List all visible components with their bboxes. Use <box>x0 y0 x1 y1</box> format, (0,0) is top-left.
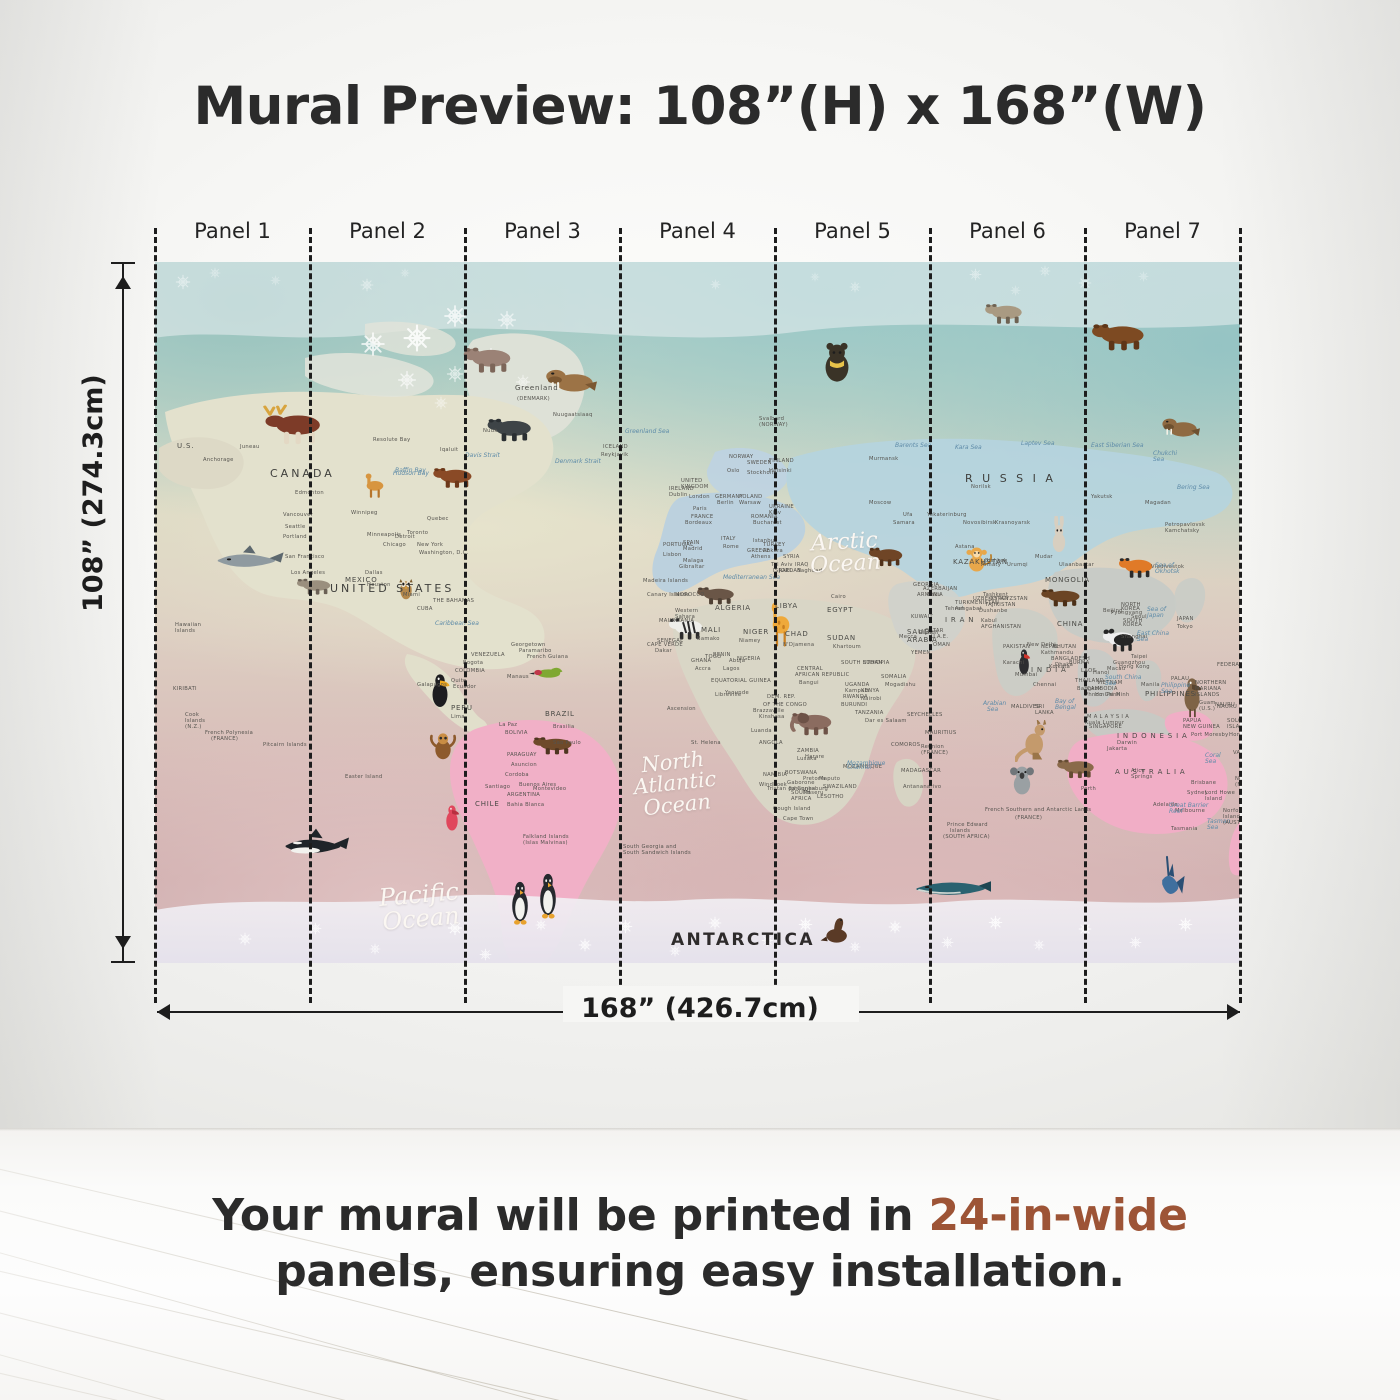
panel-seam-1 <box>309 228 312 1003</box>
panel-seam-0 <box>154 228 157 1003</box>
caption-line-2: panels, ensuring easy installation. <box>0 1244 1400 1300</box>
height-tick-top <box>111 262 135 264</box>
wall-shadow-right <box>1220 0 1400 1128</box>
caption-line-1-pre: Your mural will be printed in <box>212 1190 928 1241</box>
panel-seam-3 <box>619 228 622 1003</box>
mural-preview-page: Mural Preview: 108”(H) x 168”(W) Panel 1… <box>0 0 1400 1400</box>
panel-seam-7 <box>1239 228 1242 1003</box>
caption-highlight: 24-in-wide <box>929 1190 1188 1241</box>
height-arrow-down <box>115 936 131 949</box>
floor-baseboard <box>0 1128 1400 1131</box>
panel-label-1: Panel 1 <box>155 214 310 248</box>
map-landmass-shapes <box>155 262 1240 963</box>
panel-seam-4 <box>774 228 777 1003</box>
height-dimension-label: 108” (274.3cm) <box>78 374 109 612</box>
panel-label-5: Panel 5 <box>775 214 930 248</box>
panel-label-7: Panel 7 <box>1085 214 1240 248</box>
height-dimension-line <box>122 262 124 963</box>
panel-label-2: Panel 2 <box>310 214 465 248</box>
height-tick-bottom <box>111 961 135 963</box>
panel-seam-6 <box>1084 228 1087 1003</box>
floor-plank-line <box>0 1394 1400 1400</box>
panel-label-row: Panel 1Panel 2Panel 3Panel 4Panel 5Panel… <box>155 214 1240 248</box>
panel-seam-2 <box>464 228 467 1003</box>
width-dimension-label: 168” (426.7cm) <box>0 993 1400 1024</box>
height-arrow-up <box>115 276 131 289</box>
panel-label-3: Panel 3 <box>465 214 620 248</box>
caption-line-1: Your mural will be printed in 24-in-wide <box>0 1188 1400 1244</box>
antarctica-label: ANTARCTICA <box>671 930 815 950</box>
map-artwork: U.S.CANADAUNITED STATESMEXICOAnchorageJu… <box>155 262 1240 963</box>
panel-label-4: Panel 4 <box>620 214 775 248</box>
mural-map-preview[interactable]: U.S.CANADAUNITED STATESMEXICOAnchorageJu… <box>155 262 1240 963</box>
page-title: Mural Preview: 108”(H) x 168”(W) <box>0 76 1400 137</box>
footer-caption: Your mural will be printed in 24-in-wide… <box>0 1188 1400 1300</box>
panel-seam-5 <box>929 228 932 1003</box>
floor-plank-line <box>0 1292 1400 1400</box>
panel-label-6: Panel 6 <box>930 214 1085 248</box>
